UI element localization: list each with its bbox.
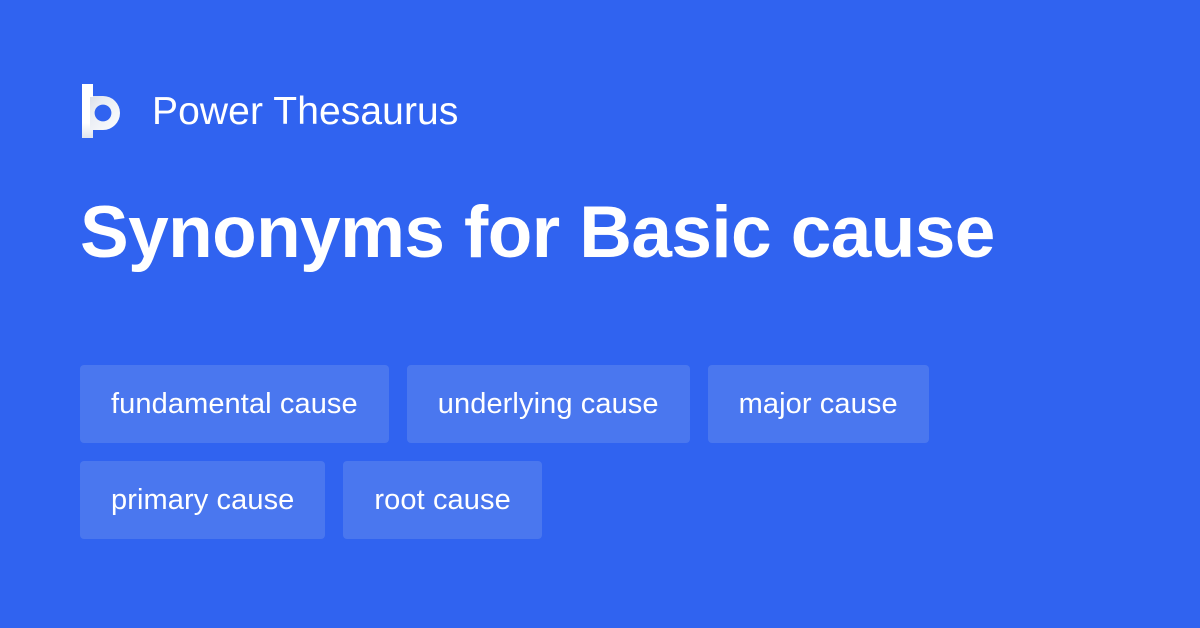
synonym-tag[interactable]: underlying cause (407, 365, 690, 443)
synonym-tag-list: fundamental cause underlying cause major… (80, 365, 1140, 539)
brand-name: power thesaurus (152, 92, 458, 131)
power-thesaurus-b-logo-icon (80, 84, 126, 138)
synonyms-card: power thesaurus Synonyms for Basic cause… (0, 0, 1200, 628)
synonym-tag-row: primary cause root cause (80, 461, 1140, 539)
synonym-tag[interactable]: root cause (343, 461, 541, 539)
synonym-tag[interactable]: primary cause (80, 461, 325, 539)
brand-logo[interactable]: power thesaurus (80, 80, 458, 142)
synonym-tag[interactable]: fundamental cause (80, 365, 389, 443)
synonym-tag[interactable]: major cause (708, 365, 929, 443)
page-title: Synonyms for Basic cause (80, 192, 1140, 274)
synonym-tag-row: fundamental cause underlying cause major… (80, 365, 1140, 443)
